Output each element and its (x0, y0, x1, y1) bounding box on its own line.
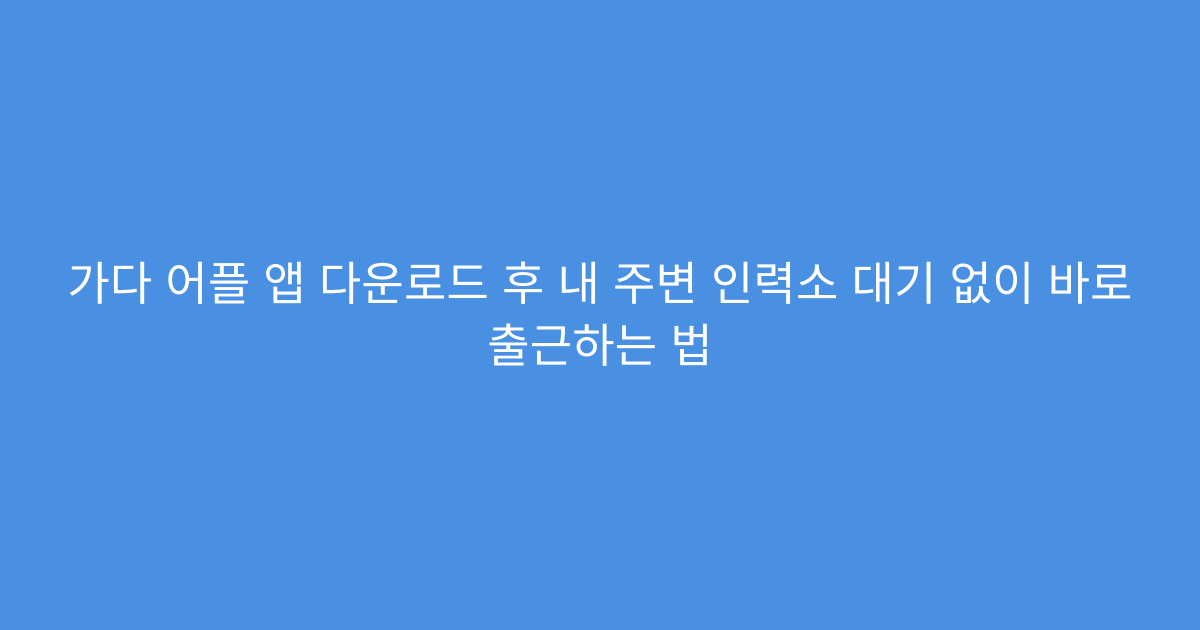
banner-card: 가다 어플 앱 다운로드 후 내 주변 인력소 대기 없이 바로 출근하는 법 (0, 0, 1200, 630)
headline-block: 가다 어플 앱 다운로드 후 내 주변 인력소 대기 없이 바로 출근하는 법 (0, 253, 1200, 377)
page-title: 가다 어플 앱 다운로드 후 내 주변 인력소 대기 없이 바로 출근하는 법 (60, 253, 1140, 377)
